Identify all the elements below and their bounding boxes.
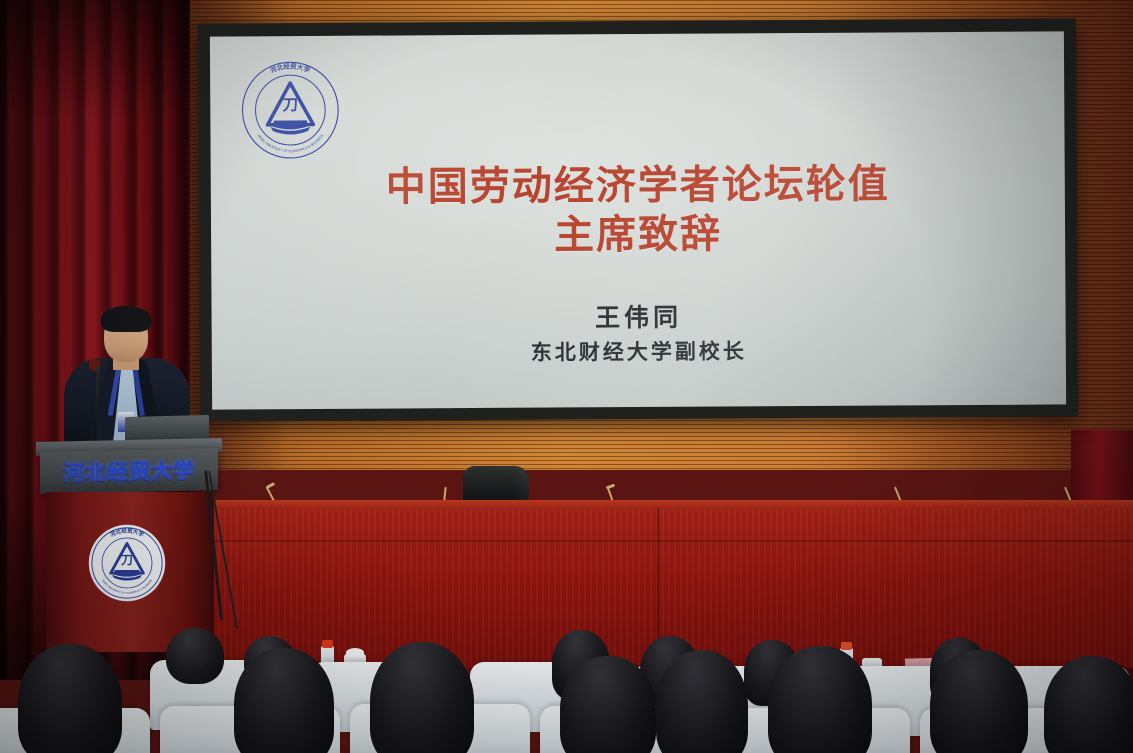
svg-text:刀: 刀 — [121, 553, 133, 567]
projection-screen-frame: 刀 河北经贸大学 HEBEI UNIVERSITY OF ECONOMICS &… — [198, 18, 1078, 421]
podium-institution-text: 河北经贸大学 — [46, 454, 212, 487]
audience-head — [656, 650, 748, 753]
svg-text:河北经贸大学: 河北经贸大学 — [269, 61, 312, 75]
audience-head — [166, 628, 224, 684]
slide-title-line1: 中国劳动经济学者论坛轮值 — [211, 159, 1065, 213]
audience — [0, 600, 1133, 753]
projection-screen: 刀 河北经贸大学 HEBEI UNIVERSITY OF ECONOMICS &… — [210, 31, 1066, 409]
audience-head — [234, 648, 334, 753]
university-seal-logo: 刀 河北经贸大学 HEBEI UNIVERSITY OF ECONOMICS &… — [238, 58, 343, 163]
audience-head — [560, 656, 656, 753]
conference-photo: 刀 河北经贸大学 HEBEI UNIVERSITY OF ECONOMICS &… — [0, 0, 1133, 753]
slide-title-line2: 主席致辞 — [211, 208, 1065, 262]
audience-head — [18, 644, 122, 753]
slide-speaker-role: 东北财经大学副校长 — [212, 333, 1066, 368]
audience-head — [930, 650, 1028, 753]
audience-head — [370, 642, 474, 753]
microphone-head — [606, 484, 615, 490]
microphone-head — [266, 482, 275, 489]
audience-head — [1044, 656, 1133, 753]
audience-head — [768, 646, 872, 753]
speaker-hair — [101, 306, 151, 332]
slide-speaker-name: 王伟同 — [211, 295, 1065, 336]
slide-title: 中国劳动经济学者论坛轮值 主席致辞 — [211, 159, 1066, 262]
svg-text:刀: 刀 — [282, 95, 298, 114]
table-panel-seam — [182, 540, 1133, 542]
podium-seal-logo: 刀 河北经贸大学 HEBEI UNIVERSITY OF ECONOMICS &… — [88, 524, 166, 602]
